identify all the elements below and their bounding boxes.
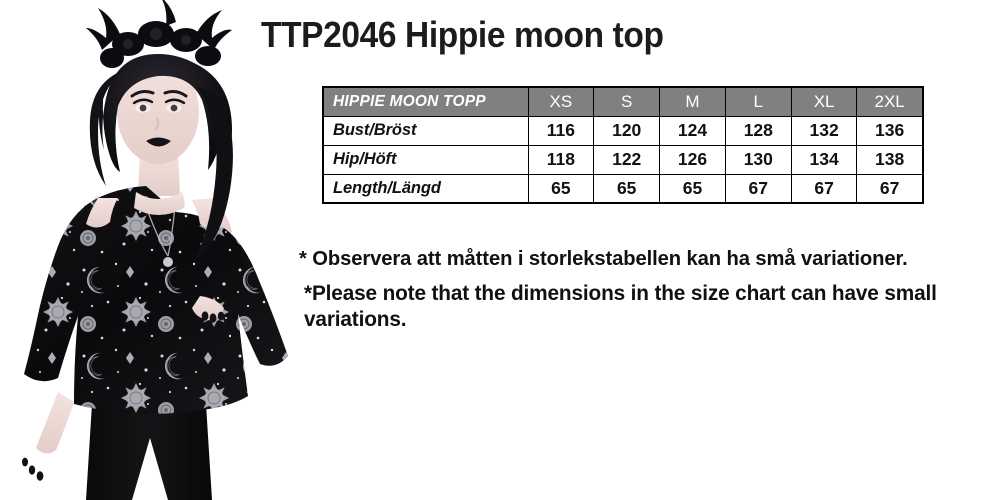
size-chart-notes: * Observera att måtten i storlekstabelle…: [299, 246, 989, 332]
size-table: HIPPIE MOON TOPP XS S M L XL 2XL Bust/Br…: [322, 86, 924, 204]
table-corner-label: HIPPIE MOON TOPP: [323, 87, 528, 116]
bust-m: 124: [660, 116, 726, 145]
row-label-bust: Bust/Bröst: [323, 116, 528, 145]
length-2xl: 67: [857, 174, 923, 203]
hip-s: 122: [594, 145, 660, 174]
length-l: 67: [725, 174, 791, 203]
row-label-hip: Hip/Höft: [323, 145, 528, 174]
hip-xl: 134: [791, 145, 857, 174]
note-english: *Please note that the dimensions in the …: [304, 281, 975, 332]
hip-m: 126: [660, 145, 726, 174]
table-row: Bust/Bröst 116 120 124 128 132 136: [323, 116, 923, 145]
length-m: 65: [660, 174, 726, 203]
hip-l: 130: [725, 145, 791, 174]
hip-2xl: 138: [857, 145, 923, 174]
length-xl: 67: [791, 174, 857, 203]
size-header-xl: XL: [791, 87, 857, 116]
size-header-xs: XS: [528, 87, 594, 116]
size-header-m: M: [660, 87, 726, 116]
bust-l: 128: [725, 116, 791, 145]
size-table-body: Bust/Bröst 116 120 124 128 132 136 Hip/H…: [323, 116, 923, 203]
size-chart: HIPPIE MOON TOPP XS S M L XL 2XL Bust/Br…: [322, 86, 922, 204]
note-swedish: * Observera att måtten i storlekstabelle…: [299, 246, 979, 271]
table-row: Hip/Höft 118 122 126 130 134 138: [323, 145, 923, 174]
length-xs: 65: [528, 174, 594, 203]
length-s: 65: [594, 174, 660, 203]
page-title: TTP2046 Hippie moon top: [261, 14, 664, 56]
table-row: Length/Längd 65 65 65 67 67 67: [323, 174, 923, 203]
size-table-header: HIPPIE MOON TOPP XS S M L XL 2XL: [323, 87, 923, 116]
hip-xs: 118: [528, 145, 594, 174]
size-header-s: S: [594, 87, 660, 116]
header-row: HIPPIE MOON TOPP XS S M L XL 2XL: [323, 87, 923, 116]
bust-xs: 116: [528, 116, 594, 145]
product-photo: [0, 0, 292, 500]
bust-2xl: 136: [857, 116, 923, 145]
row-label-length: Length/Längd: [323, 174, 528, 203]
bust-xl: 132: [791, 116, 857, 145]
size-header-l: L: [725, 87, 791, 116]
size-header-2xl: 2XL: [857, 87, 923, 116]
bust-s: 120: [594, 116, 660, 145]
